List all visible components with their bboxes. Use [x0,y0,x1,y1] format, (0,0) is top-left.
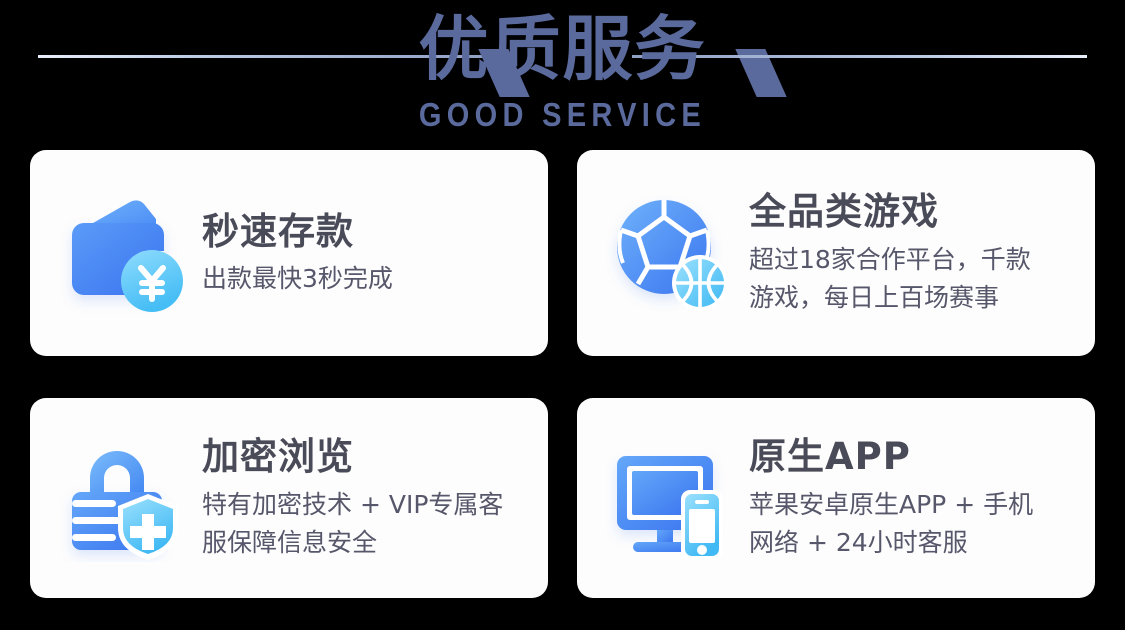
feature-card-deposit[interactable]: 秒速存款 出款最快3秒完成 [30,150,548,356]
banner-header: 优质服务 GOOD SERVICE [0,0,1125,146]
feature-card-grid: 秒速存款 出款最快3秒完成 [30,150,1095,598]
feature-card-subtitle-line: 网络 + 24小时客服 [749,524,1079,562]
feature-card-text: 加密浏览 特有加密技术 + VIP专属客 服保障信息安全 [202,435,532,562]
feature-card-subtitle-line: 特有加密技术 + VIP专属客 [202,486,532,524]
feature-card-subtitle-line: 苹果安卓原生APP + 手机 [749,486,1079,524]
feature-card-subtitle-line: 游戏，每日上百场赛事 [749,279,1079,317]
feature-card-title: 秒速存款 [202,210,532,254]
good-service-banner: 优质服务 GOOD SERVICE [0,0,1125,630]
soccer-basketball-icon [607,189,735,317]
feature-card-encryption[interactable]: 加密浏览 特有加密技术 + VIP专属客 服保障信息安全 [30,398,548,598]
page-subtitle: GOOD SERVICE [68,97,1058,133]
feature-card-native-app[interactable]: 原生APP 苹果安卓原生APP + 手机 网络 + 24小时客服 [577,398,1095,598]
feature-card-text: 原生APP 苹果安卓原生APP + 手机 网络 + 24小时客服 [749,435,1079,562]
monitor-phone-icon [607,434,735,562]
wallet-yen-icon [60,189,188,317]
feature-card-subtitle: 苹果安卓原生APP + 手机 网络 + 24小时客服 [749,486,1079,562]
feature-card-title: 全品类游戏 [749,190,1079,234]
feature-card-subtitle-line: 超过18家合作平台，千款 [749,241,1079,279]
feature-card-subtitle-line: 服保障信息安全 [202,524,532,562]
feature-card-title: 原生APP [749,435,1079,479]
feature-card-title: 加密浏览 [202,435,532,479]
feature-card-subtitle-line: 出款最快3秒完成 [202,261,532,297]
feature-card-subtitle: 特有加密技术 + VIP专属客 服保障信息安全 [202,486,532,562]
feature-card-text: 全品类游戏 超过18家合作平台，千款 游戏，每日上百场赛事 [749,190,1079,317]
feature-card-games[interactable]: 全品类游戏 超过18家合作平台，千款 游戏，每日上百场赛事 [577,150,1095,356]
lock-shield-icon [60,434,188,562]
page-title: 优质服务 [0,8,1125,90]
feature-card-subtitle: 出款最快3秒完成 [202,261,532,297]
feature-card-subtitle: 超过18家合作平台，千款 游戏，每日上百场赛事 [749,241,1079,317]
feature-card-text: 秒速存款 出款最快3秒完成 [202,210,532,297]
